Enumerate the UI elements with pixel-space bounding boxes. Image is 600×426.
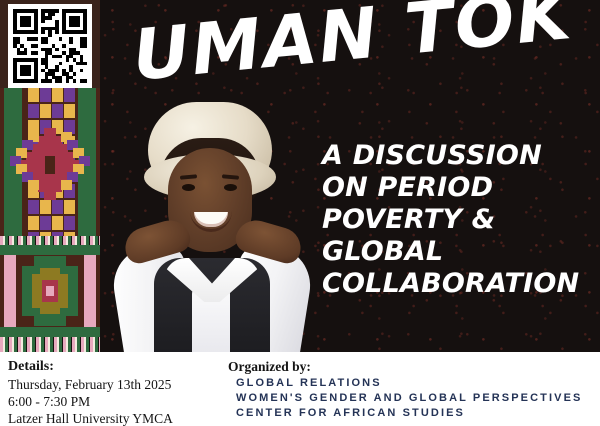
details-heading: Details: [8, 358, 173, 376]
details-location: Latzer Hall University YMCA [8, 410, 173, 426]
poster-headline: A DISCUSSION ON PERIOD POVERTY & GLOBAL … [322, 140, 590, 300]
organizer-item: GLOBAL RELATIONS [236, 376, 582, 391]
qr-code[interactable] [8, 4, 92, 88]
organizer-item: WOMEN'S GENDER AND GLOBAL PERSPECTIVES [236, 391, 582, 406]
poster-footer: Details: Thursday, February 13th 2025 6:… [0, 352, 600, 426]
portrait-eye-right [224, 184, 237, 191]
headline-line-3: POVERTY & [322, 204, 590, 236]
event-details-block: Details: Thursday, February 13th 2025 6:… [8, 358, 173, 426]
details-time: 6:00 - 7:30 PM [8, 393, 173, 410]
headline-line-1: A DISCUSSION [322, 140, 590, 172]
headline-line-2: ON PERIOD [322, 172, 590, 204]
portrait-photo [108, 96, 318, 352]
left-decorative-strip [0, 0, 100, 352]
poster-hero-panel: UMAN TOK A DISCUSSION ON PERIOD POVE [0, 0, 600, 352]
organizers-heading: Organized by: [228, 358, 582, 376]
details-date: Thursday, February 13th 2025 [8, 376, 173, 393]
organizer-item: CENTER FOR AFRICAN STUDIES [236, 406, 582, 421]
organizers-block: Organized by: GLOBAL RELATIONS WOMEN'S G… [228, 358, 582, 421]
headline-line-4: GLOBAL [322, 236, 590, 268]
kente-cloth-pattern [0, 88, 100, 352]
portrait-eye-left [182, 184, 195, 191]
headline-line-5: COLLABORATION [322, 268, 590, 300]
event-poster: UMAN TOK A DISCUSSION ON PERIOD POVE [0, 0, 600, 426]
qr-code-matrix [13, 9, 87, 83]
